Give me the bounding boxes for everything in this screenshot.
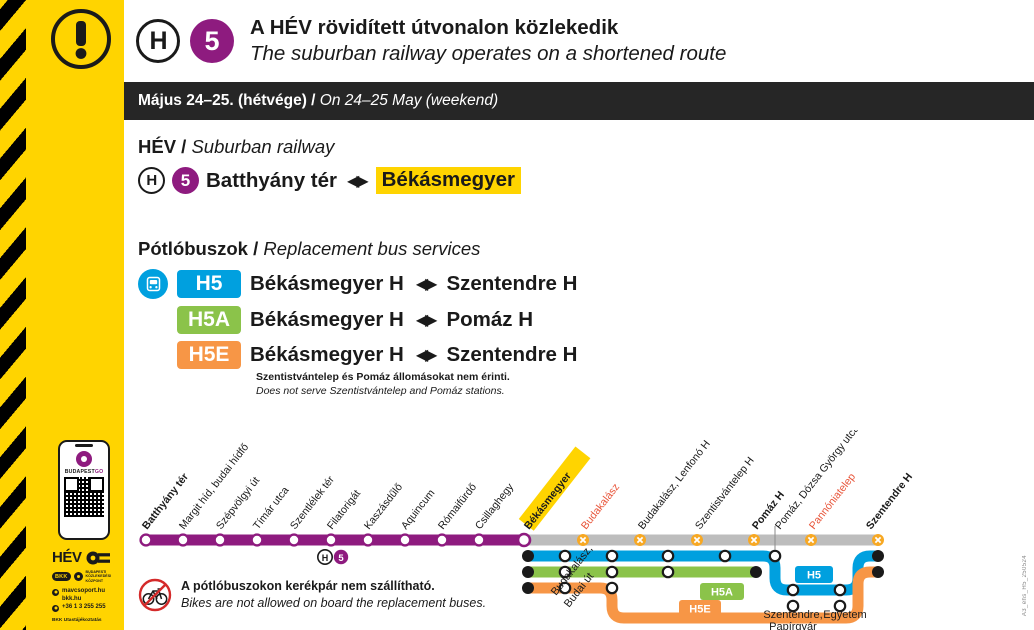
- bus-heading-en: Replacement bus services: [263, 238, 480, 259]
- date-hu: Május 24–25. (hétvége): [138, 92, 307, 109]
- exclamation-icon: [50, 8, 112, 70]
- h5e-note-en: Does not serve Szentistvántelep and Pomá…: [256, 385, 1018, 399]
- station-labels-top: Batthyány tér Margit híd, budai hídfő Sz…: [140, 430, 915, 532]
- diagram-badge-h5e: H5E: [679, 600, 721, 617]
- route-diagram: H 5: [0, 430, 910, 630]
- route-badge-h5e: H5E: [177, 341, 241, 369]
- hev-line-marker: H 5: [318, 550, 348, 564]
- page-title-en: The suburban railway operates on a short…: [250, 41, 726, 67]
- hev-symbol-icon-small: H: [138, 167, 165, 194]
- date-bar: Május 24–25. (hétvége) / On 24–25 May (w…: [124, 82, 1034, 120]
- hev-symbol-letter-small: H: [146, 172, 156, 189]
- route-h5a-arrows-icon: ◀▶: [416, 310, 435, 330]
- diagram-badge-h5a: H5A: [700, 583, 744, 600]
- h5e-note-hu: Szentistvántelep és Pomáz állomásokat ne…: [256, 371, 1018, 385]
- header-titles: A HÉV rövidített útvonalon közlekedik Th…: [250, 15, 726, 67]
- hev-route-to: Békásmegyer: [376, 167, 521, 194]
- route-h5-from: Békásmegyer H: [250, 272, 404, 296]
- page-title-hu: A HÉV rövidített útvonalon közlekedik: [250, 15, 726, 41]
- route-h5a-to: Pomáz H: [446, 308, 533, 332]
- station-label-szentistvantelep: Szentistvántelep H: [693, 455, 757, 532]
- route-h5e-to: Szentendre H: [446, 343, 577, 367]
- reference-code: A3_ehs_H5_250524: [1022, 555, 1028, 616]
- bus-route-row-h5e: H5E Békásmegyer H ◀▶ Szentendre H: [177, 341, 1018, 369]
- bus-route-row-h5a: H5A Békásmegyer H ◀▶ Pomáz H: [177, 306, 1018, 334]
- date-bar-content: Május 24–25. (hétvége) / On 24–25 May (w…: [138, 92, 498, 110]
- station-label-filatorigat: Filatorigát: [325, 488, 363, 532]
- date-separator: /: [307, 92, 320, 109]
- hev-heading-sep: /: [176, 136, 191, 157]
- station-label-szentendre: Szentendre H: [864, 471, 915, 532]
- bus-section-heading: Pótlóbuszok / Replacement bus services: [138, 238, 1018, 260]
- station-label-csillaghegy: Csillaghegy: [473, 481, 517, 532]
- route-badge-h5: H5: [177, 270, 241, 298]
- diagram-badge-h5e-label: H5E: [689, 604, 710, 616]
- header: H 5 A HÉV rövidített útvonalon közlekedi…: [124, 0, 1034, 82]
- bus-section: Pótlóbuszok / Replacement bus services H…: [138, 238, 1018, 399]
- hev-marker-number: 5: [338, 553, 344, 564]
- h5e-exception-note: Szentistvántelep és Pomáz állomásokat ne…: [256, 371, 1018, 399]
- station-label-szentendre-papirgyar-line2: Papírgyár: [769, 621, 817, 630]
- bus-heading-hu: Pótlóbuszok: [138, 238, 248, 259]
- hev-heading-hu: HÉV: [138, 136, 176, 157]
- route-h5-to: Szentendre H: [446, 272, 577, 296]
- station-label-bekasmegyer: Békásmegyer: [522, 470, 574, 532]
- station-label-timar-utca: Tímár utca: [251, 484, 292, 531]
- hev-route-arrows-icon: ◀▶: [347, 171, 366, 191]
- hev-symbol-letter: H: [149, 27, 166, 56]
- hev-route-row: H 5 Batthyány tér ◀▶ Békásmegyer: [138, 167, 1018, 194]
- diagram-badge-h5a-label: H5A: [711, 587, 733, 599]
- line-5-number: 5: [204, 26, 219, 57]
- bus-heading-sep: /: [248, 238, 263, 259]
- line-5-badge-small: 5: [172, 167, 199, 194]
- station-label-aquincum: Aquincum: [399, 487, 438, 532]
- route-h5e-from: Békásmegyer H: [250, 343, 404, 367]
- station-label-egyetem: Egyetem: [823, 609, 866, 621]
- diagram-badge-h5-label: H5: [807, 570, 821, 582]
- bus-route-row-h5: H5 Békásmegyer H ◀▶ Szentendre H: [138, 269, 1018, 299]
- hev-symbol-icon: H: [136, 19, 180, 63]
- line-5-badge: 5: [190, 19, 234, 63]
- route-badge-h5a: H5A: [177, 306, 241, 334]
- hev-heading-en: Suburban railway: [191, 136, 334, 157]
- hev-route-from: Batthyány tér: [206, 169, 337, 193]
- route-h5e-arrows-icon: ◀▶: [416, 345, 435, 365]
- hev-section-heading: HÉV / Suburban railway: [138, 136, 1018, 158]
- station-label-margit-hid: Margit híd, budai hídfő: [177, 441, 251, 532]
- date-en: On 24–25 May (weekend): [320, 92, 498, 109]
- line-5-number-small: 5: [181, 171, 190, 191]
- diagram-badge-h5: H5: [795, 566, 833, 583]
- hev-marker-symbol: H: [322, 553, 329, 563]
- bus-icon: [138, 269, 168, 299]
- hev-section: HÉV / Suburban railway H 5 Batthyány tér…: [138, 136, 1018, 194]
- route-h5a-from: Békásmegyer H: [250, 308, 404, 332]
- station-label-szentendre-papirgyar-line1: Szentendre,: [763, 609, 822, 621]
- station-label-budakalasz: Budakalász: [579, 481, 622, 532]
- route-h5-arrows-icon: ◀▶: [416, 274, 435, 294]
